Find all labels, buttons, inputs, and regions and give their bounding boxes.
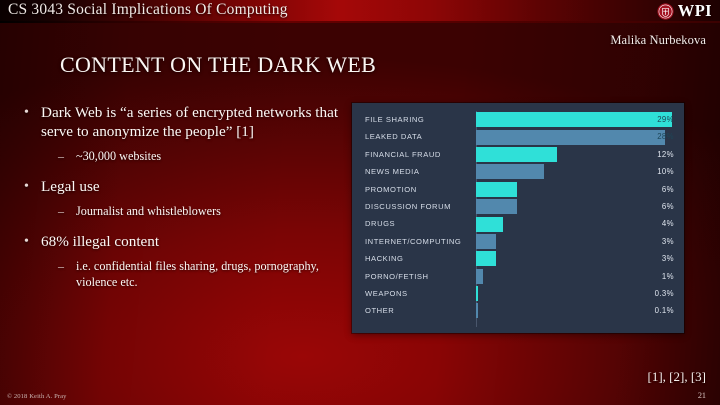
- chart-bar-track: [476, 302, 672, 319]
- chart-value-label: 12%: [657, 146, 674, 163]
- bullet-list: • Dark Web is “a series of encrypted net…: [14, 104, 354, 290]
- footer-references: [1], [2], [3]: [648, 369, 706, 385]
- chart-row-label: INTERNET/COMPUTING: [365, 233, 461, 250]
- chart-row: FILE SHARING29%: [352, 111, 684, 128]
- chart-bar: [476, 217, 503, 232]
- chart-value-label: 6%: [662, 181, 674, 198]
- chart-bar: [476, 286, 478, 301]
- chart-bar-track: [476, 233, 672, 250]
- chart-row: DISCUSSION FORUM6%: [352, 198, 684, 215]
- bullet-item-4: – Journalist and whistleblowers: [14, 204, 354, 219]
- chart-row-label: LEAKED DATA: [365, 128, 422, 145]
- bullet-item-5: • 68% illegal content: [14, 233, 354, 252]
- chart-bar: [476, 199, 517, 214]
- bullet-marker: •: [24, 178, 29, 197]
- chart-row-label: HACKING: [365, 250, 403, 267]
- chart-bar-track: [476, 146, 672, 163]
- wpi-logo: WPI: [657, 1, 712, 21]
- chart-bar-track: [476, 128, 672, 145]
- chart-row-label: NEWS MEDIA: [365, 163, 419, 180]
- chart-value-label: 0.3%: [655, 285, 674, 302]
- bullet-item-3: • Legal use: [14, 178, 354, 197]
- bullet-text: i.e. confidential files sharing, drugs, …: [76, 259, 319, 288]
- chart-row: FINANCIAL FRAUD12%: [352, 146, 684, 163]
- bullet-item-2: – ~30,000 websites: [14, 149, 354, 164]
- slide-canvas: CS 3043 Social Implications Of Computing…: [0, 0, 720, 405]
- chart-row: INTERNET/COMPUTING3%: [352, 233, 684, 250]
- bullet-text: Dark Web is “a series of encrypted netwo…: [41, 104, 338, 140]
- chart-value-label: 28%: [657, 128, 674, 145]
- bullet-marker: •: [24, 233, 29, 252]
- chart-row-label: FINANCIAL FRAUD: [365, 146, 441, 163]
- chart-row: DRUGS4%: [352, 215, 684, 232]
- chart-row-label: FILE SHARING: [365, 111, 424, 128]
- chart-value-label: 3%: [662, 250, 674, 267]
- chart-bar-track: [476, 111, 672, 128]
- chart-row: LEAKED DATA28%: [352, 128, 684, 145]
- author-name: Malika Nurbekova: [610, 33, 706, 48]
- bullet-item-6: – i.e. confidential files sharing, drugs…: [14, 259, 354, 290]
- course-title: CS 3043 Social Implications Of Computing: [8, 1, 288, 19]
- chart-bar: [476, 269, 483, 284]
- chart-value-label: 3%: [662, 233, 674, 250]
- chart-row-label: WEAPONS: [365, 285, 408, 302]
- chart-row: WEAPONS0.3%: [352, 285, 684, 302]
- chart-row-label: DRUGS: [365, 215, 395, 232]
- chart-bar-track: [476, 181, 672, 198]
- chart-value-label: 0.1%: [655, 302, 674, 319]
- chart-bar: [476, 303, 478, 318]
- wpi-logo-text: WPI: [678, 1, 712, 21]
- chart-row-label: DISCUSSION FORUM: [365, 198, 451, 215]
- chart-bar-track: [476, 163, 672, 180]
- chart-bar-track: [476, 198, 672, 215]
- bullet-text: 68% illegal content: [41, 233, 159, 250]
- bullet-text: Journalist and whistleblowers: [76, 204, 221, 218]
- chart-value-label: 1%: [662, 268, 674, 285]
- chart-bar-track: [476, 215, 672, 232]
- chart-row: PROMOTION6%: [352, 181, 684, 198]
- wpi-seal-icon: [657, 3, 674, 20]
- chart-row: PORNO/FETISH1%: [352, 268, 684, 285]
- chart-row-label: PROMOTION: [365, 181, 417, 198]
- chart-bar-track: [476, 285, 672, 302]
- bullet-marker: –: [58, 149, 64, 164]
- chart-bar-track: [476, 268, 672, 285]
- bullet-text: Legal use: [41, 178, 100, 195]
- chart-bar: [476, 164, 544, 179]
- dark-web-content-bar-chart: FILE SHARING29%LEAKED DATA28%FINANCIAL F…: [352, 103, 684, 333]
- chart-bar: [476, 251, 496, 266]
- bullet-marker: –: [58, 259, 64, 274]
- chart-bar: [476, 147, 557, 162]
- bullet-item-1: • Dark Web is “a series of encrypted net…: [14, 104, 354, 141]
- footer-copyright: © 2018 Keith A. Pray: [7, 393, 67, 400]
- bullet-text: ~30,000 websites: [76, 149, 161, 163]
- chart-value-label: 4%: [662, 215, 674, 232]
- chart-value-label: 6%: [662, 198, 674, 215]
- bullet-marker: –: [58, 204, 64, 219]
- chart-plot-area: FILE SHARING29%LEAKED DATA28%FINANCIAL F…: [352, 103, 684, 333]
- footer-page-number: 21: [698, 391, 706, 400]
- chart-bar: [476, 182, 517, 197]
- chart-row: NEWS MEDIA10%: [352, 163, 684, 180]
- chart-bar: [476, 130, 665, 145]
- chart-row-label: OTHER: [365, 302, 394, 319]
- chart-row-label: PORNO/FETISH: [365, 268, 429, 285]
- bullet-marker: •: [24, 104, 29, 123]
- page-title: CONTENT ON THE DARK WEB: [60, 52, 376, 78]
- chart-value-label: 10%: [657, 163, 674, 180]
- chart-bar: [476, 112, 672, 127]
- chart-bar-track: [476, 250, 672, 267]
- chart-value-label: 29%: [657, 111, 674, 128]
- chart-row: OTHER0.1%: [352, 302, 684, 319]
- chart-bar: [476, 234, 496, 249]
- chart-row: HACKING3%: [352, 250, 684, 267]
